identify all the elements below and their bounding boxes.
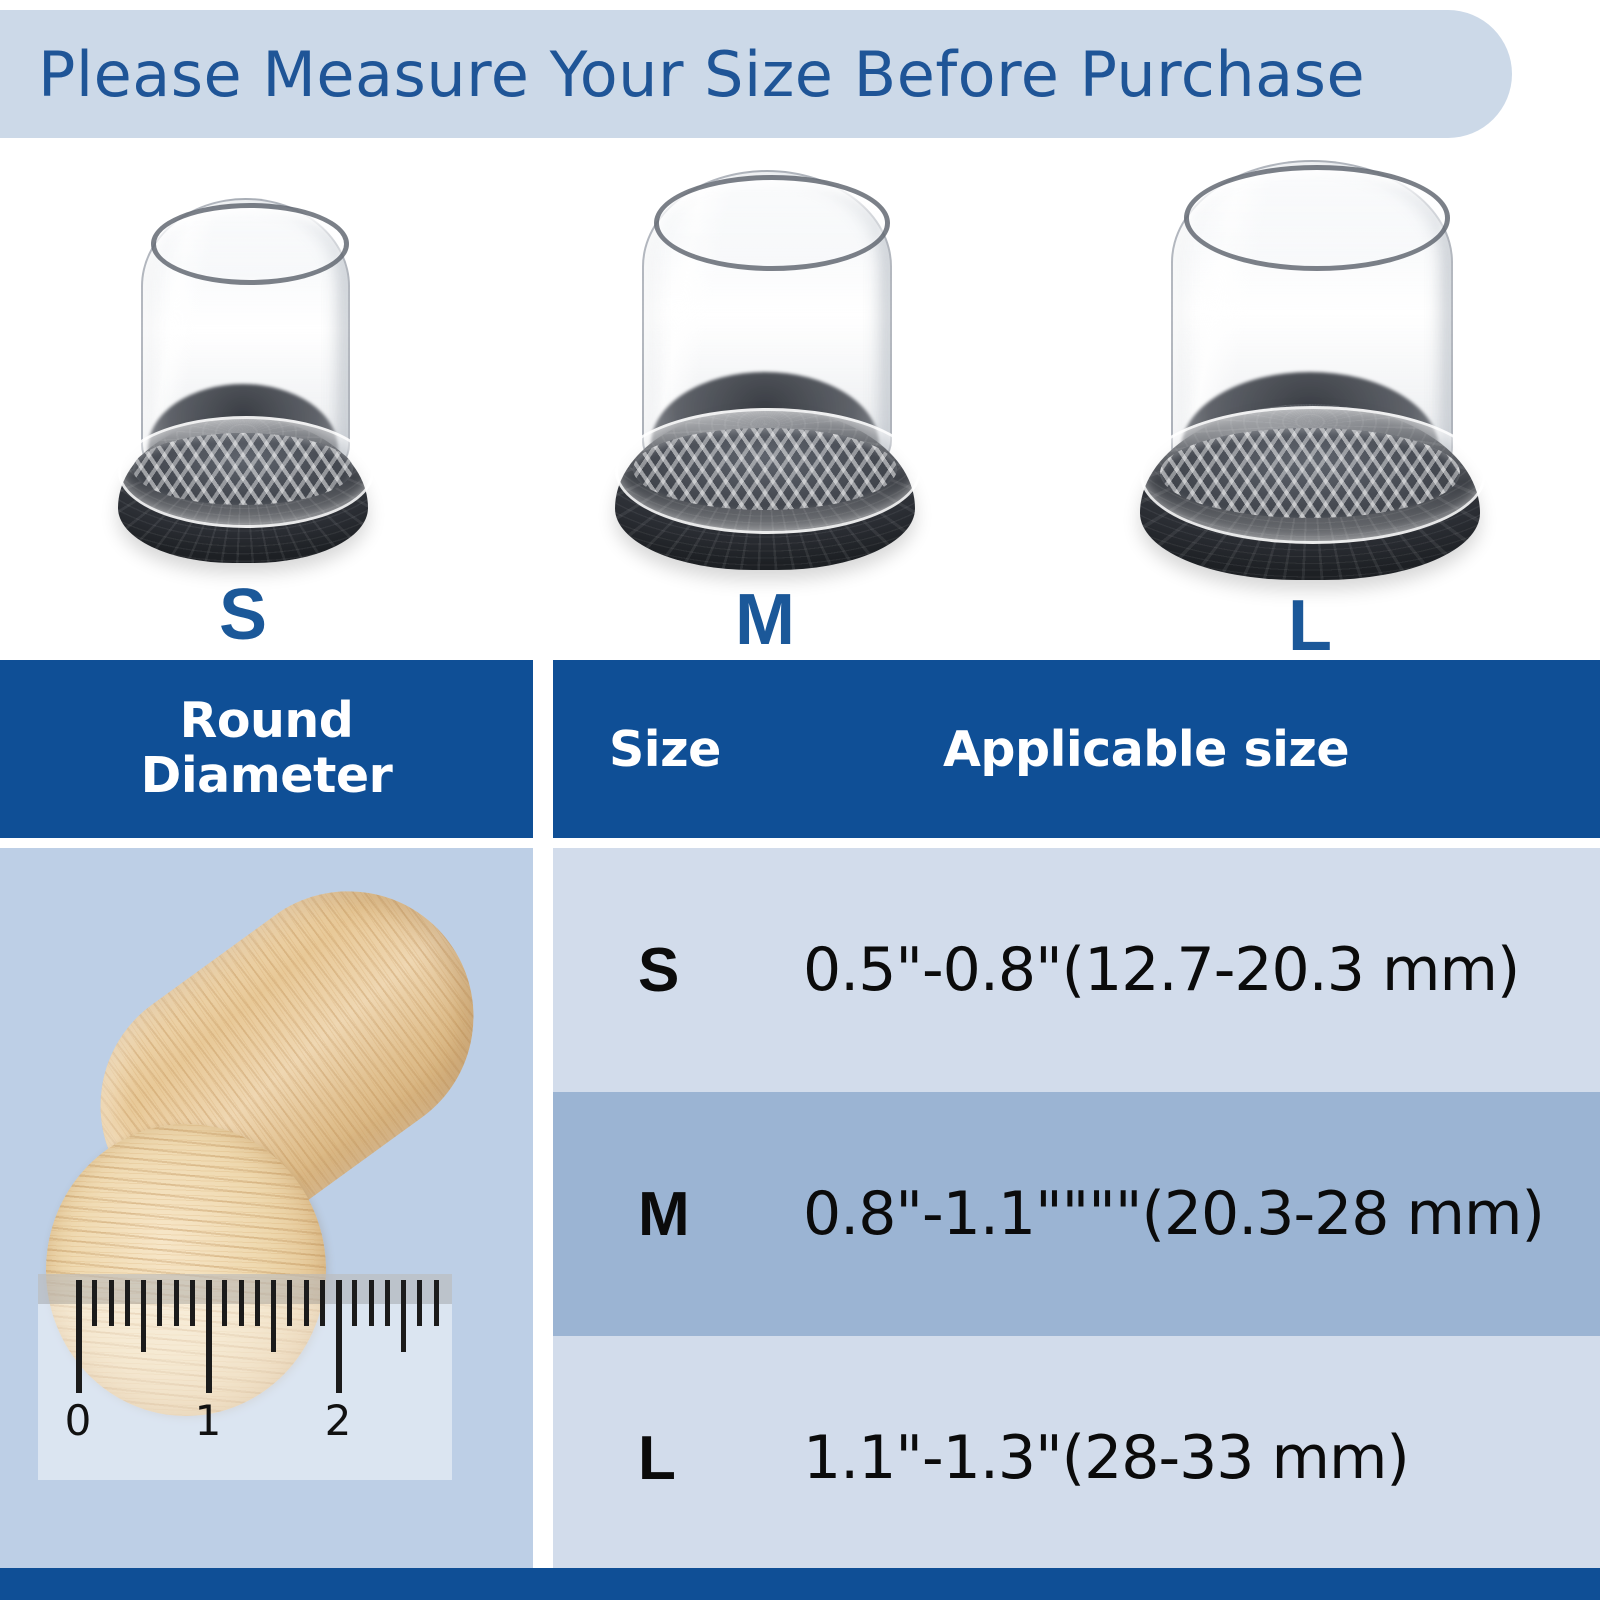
round-diameter-line2: Diameter — [141, 747, 393, 804]
ruler-tick-label: 0 — [65, 1396, 92, 1445]
row-applicable-l: 1.1"-1.3"(28-33 mm) — [803, 1423, 1409, 1493]
ruler-overlay: 012 — [38, 1274, 452, 1480]
row-applicable-m: 0.8"-1.1""""(20.3-28 mm) — [803, 1179, 1544, 1249]
product-label-l: L — [1140, 590, 1480, 662]
column-header-size: Size — [609, 660, 721, 838]
ruler-tick — [157, 1280, 162, 1326]
column-header-applicable-size: Applicable size — [943, 660, 1349, 838]
product-medium: M — [615, 160, 915, 656]
ruler-tick — [320, 1280, 325, 1326]
header-banner: Please Measure Your Size Before Purchase — [0, 10, 1512, 138]
ruler-tick-label: 1 — [195, 1396, 222, 1445]
ruler-tick — [401, 1280, 406, 1352]
product-large: L — [1140, 150, 1480, 662]
row-size-s: S — [638, 935, 679, 1006]
ruler-tick — [141, 1280, 146, 1352]
round-diameter-header: Round Diameter — [0, 660, 533, 838]
row-applicable-s: 0.5"-0.8"(12.7-20.3 mm) — [803, 935, 1519, 1005]
round-diameter-header-text: Round Diameter — [141, 694, 393, 804]
ruler-tick — [206, 1280, 212, 1393]
size-table-header-row: Size Applicable size — [553, 660, 1600, 838]
round-diameter-line1: Round — [180, 692, 354, 749]
table-row: L 1.1"-1.3"(28-33 mm) — [553, 1336, 1600, 1580]
table-row: M 0.8"-1.1""""(20.3-28 mm) — [553, 1092, 1600, 1336]
ruler-tick — [271, 1280, 276, 1352]
ruler-tick — [255, 1280, 260, 1326]
product-label-m: M — [615, 584, 915, 656]
ruler-tick — [109, 1280, 114, 1326]
cap-grip-disc-s — [133, 433, 353, 505]
ruler-tick-label: 2 — [325, 1396, 352, 1445]
ruler-tick — [369, 1280, 374, 1326]
ruler-tick — [434, 1280, 439, 1326]
ruler-tick — [76, 1280, 82, 1393]
row-size-l: L — [638, 1423, 676, 1494]
row-size-m: M — [638, 1179, 690, 1250]
ruler-tick — [190, 1280, 195, 1326]
ruler-body — [38, 1274, 452, 1480]
cap-mouth-l — [1184, 165, 1450, 271]
ruler-tick — [222, 1280, 227, 1326]
ruler-tick — [287, 1280, 292, 1326]
cap-grip-disc-l — [1160, 428, 1459, 518]
cap-mouth-s — [151, 203, 350, 285]
ruler-edge-band — [38, 1274, 452, 1304]
bottom-accent-bar — [0, 1568, 1600, 1600]
size-table-rows: S 0.5"-0.8"(12.7-20.3 mm) M 0.8"-1.1""""… — [553, 848, 1600, 1580]
ruler-tick — [352, 1280, 357, 1326]
ruler-tick — [174, 1280, 179, 1326]
product-showcase: S M L — [0, 150, 1600, 650]
ruler-tick — [92, 1280, 97, 1326]
ruler-tick — [125, 1280, 130, 1326]
size-table: Size Applicable size S 0.5"-0.8"(12.7-20… — [553, 660, 1600, 1568]
ruler-tick — [239, 1280, 244, 1326]
product-small: S — [118, 188, 368, 651]
cap-grip-disc-m — [633, 428, 897, 510]
ruler-tick — [304, 1280, 309, 1326]
cap-mouth-m — [654, 175, 890, 271]
ruler-tick — [417, 1280, 422, 1326]
product-label-s: S — [118, 579, 368, 651]
banner-title: Please Measure Your Size Before Purchase — [0, 38, 1365, 111]
table-row: S 0.5"-0.8"(12.7-20.3 mm) — [553, 848, 1600, 1092]
ruler-tick — [385, 1280, 390, 1326]
ruler-tick — [336, 1280, 342, 1393]
